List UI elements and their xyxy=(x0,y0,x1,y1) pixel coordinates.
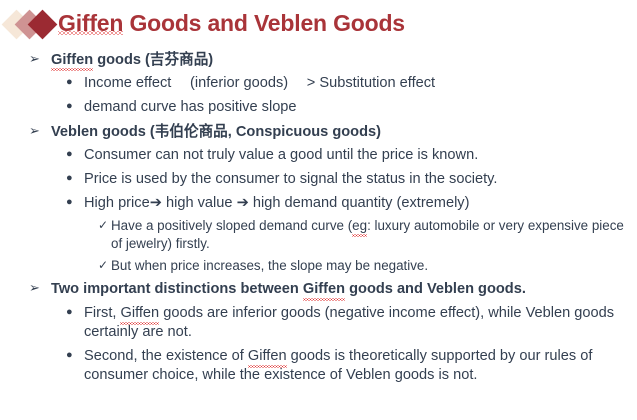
list-item-text: But when price increases, the slope may … xyxy=(111,257,637,275)
list-item-text: Giffen goods (吉芬商品) xyxy=(51,51,637,69)
veblen-goods-heading: ➢Veblen goods (韦伯伦商品, Conspicuous goods) xyxy=(0,123,637,141)
text-segment: Consumer can not truly value a good unti… xyxy=(84,147,478,163)
positively-sloped-curve-item: ✓Have a positively sloped demand curve (… xyxy=(0,217,637,252)
check-bullet-icon: ✓ xyxy=(98,257,111,273)
high-price-chain-item: ●High price➔ high value ➔ high demand qu… xyxy=(0,194,637,213)
text-segment: Income effect (inferior goods) > Substit… xyxy=(84,75,435,91)
bullet-list: ➢Giffen goods (吉芬商品)●Income effect (infe… xyxy=(0,45,637,384)
dot-bullet-icon: ● xyxy=(66,305,84,320)
first-distinction-item: ●First, Giffen goods are inferior goods … xyxy=(0,304,637,342)
check-bullet-icon: ✓ xyxy=(98,217,111,233)
text-segment: Two important distinctions between xyxy=(51,281,303,297)
arrow-glyph-icon: ➔ xyxy=(150,195,162,211)
misspelled-word: Giffen xyxy=(51,51,93,69)
price-signal-status-item: ●Price is used by the consumer to signal… xyxy=(0,170,637,189)
title-misspelled-word: Giffen xyxy=(58,12,123,35)
text-segment: Veblen goods (韦伯伦商品, Conspicuous goods) xyxy=(51,124,381,140)
diamond-decoration-icon xyxy=(0,6,58,42)
list-item-text: High price➔ high value ➔ high demand qua… xyxy=(84,194,637,213)
second-distinction-item: ●Second, the existence of Giffen goods i… xyxy=(0,347,637,385)
list-item-text: Two important distinctions between Giffe… xyxy=(51,280,637,298)
misspelled-word: Giffen xyxy=(248,347,287,366)
text-segment: Price is used by the consumer to signal … xyxy=(84,171,497,187)
text-segment: goods and Veblen goods. xyxy=(345,281,526,297)
slide-canvas: Giffen Goods and Veblen Goods ➢Giffen go… xyxy=(0,0,637,420)
text-segment: goods are inferior goods (negative incom… xyxy=(84,305,614,340)
title-rest: Goods and Veblen Goods xyxy=(123,10,405,36)
arrow-bullet-icon: ➢ xyxy=(29,123,51,139)
list-item-text: Second, the existence of Giffen goods is… xyxy=(84,347,637,385)
text-segment: High price xyxy=(84,195,150,211)
text-segment: high demand quantity (extremely) xyxy=(249,195,470,211)
price-increase-negative-slope-item: ✓But when price increases, the slope may… xyxy=(0,257,637,275)
dot-bullet-icon: ● xyxy=(66,195,84,210)
list-item-text: demand curve has positive slope xyxy=(84,98,637,117)
dot-bullet-icon: ● xyxy=(66,348,84,363)
dot-bullet-icon: ● xyxy=(66,147,84,162)
page-title: Giffen Goods and Veblen Goods xyxy=(58,12,405,37)
dot-bullet-icon: ● xyxy=(66,99,84,114)
misspelled-word: eg xyxy=(352,217,367,235)
text-segment: demand curve has positive slope xyxy=(84,99,297,115)
arrow-bullet-icon: ➢ xyxy=(29,280,51,296)
consumer-value-item: ●Consumer can not truly value a good unt… xyxy=(0,146,637,165)
misspelled-word: Giffen xyxy=(303,280,345,298)
arrow-glyph-icon: ➔ xyxy=(237,195,249,211)
slide-title-row: Giffen Goods and Veblen Goods xyxy=(0,4,405,44)
two-distinctions-heading: ➢Two important distinctions between Giff… xyxy=(0,280,637,298)
text-segment: But when price increases, the slope may … xyxy=(111,258,428,273)
text-segment: goods (吉芬商品) xyxy=(93,52,213,68)
list-item-text: Have a positively sloped demand curve (e… xyxy=(111,217,637,252)
arrow-bullet-icon: ➢ xyxy=(29,51,51,67)
text-segment: Second, the existence of xyxy=(84,348,248,364)
text-segment: Have a positively sloped demand curve ( xyxy=(111,218,352,233)
dot-bullet-icon: ● xyxy=(66,75,84,90)
demand-curve-slope-item: ●demand curve has positive slope xyxy=(0,98,637,117)
giffen-goods-heading: ➢Giffen goods (吉芬商品) xyxy=(0,51,637,69)
list-item-text: Price is used by the consumer to signal … xyxy=(84,170,637,189)
text-segment: high value xyxy=(162,195,237,211)
income-effect-item: ●Income effect (inferior goods) > Substi… xyxy=(0,74,637,93)
dot-bullet-icon: ● xyxy=(66,171,84,186)
misspelled-word: Giffen xyxy=(120,304,159,323)
list-item-text: Consumer can not truly value a good unti… xyxy=(84,146,637,165)
list-item-text: First, Giffen goods are inferior goods (… xyxy=(84,304,637,342)
list-item-text: Veblen goods (韦伯伦商品, Conspicuous goods) xyxy=(51,123,637,141)
text-segment: First, xyxy=(84,305,120,321)
list-item-text: Income effect (inferior goods) > Substit… xyxy=(84,74,637,93)
